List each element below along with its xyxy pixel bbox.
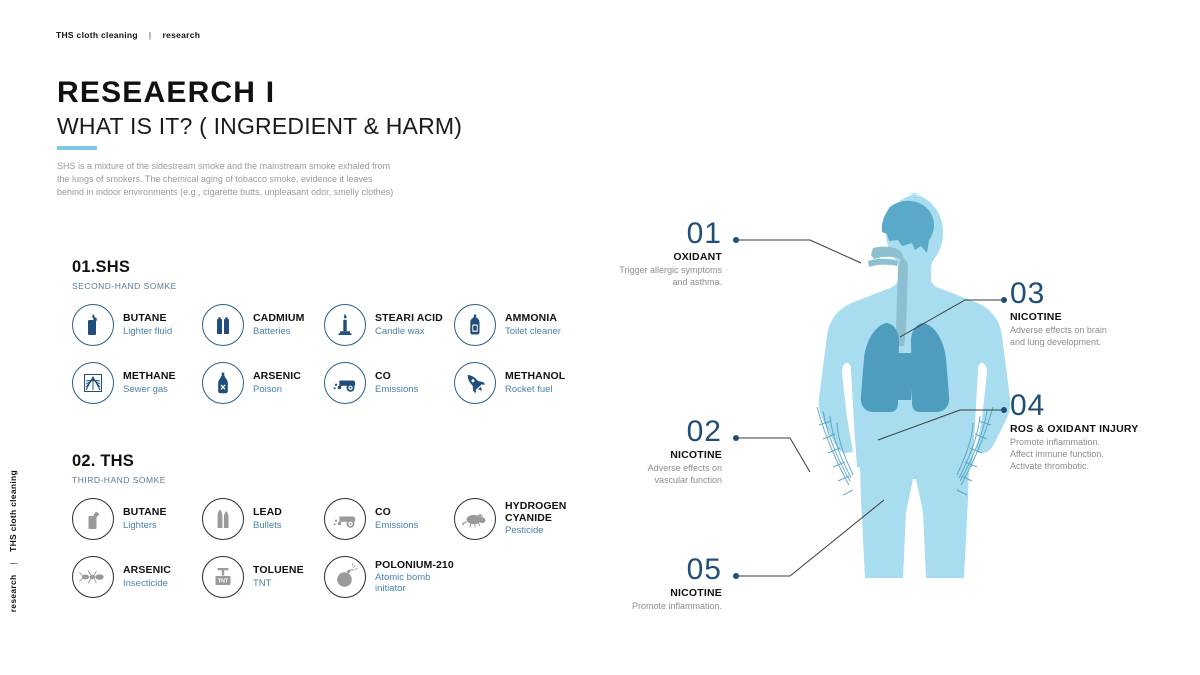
cannon-icon [324, 362, 366, 404]
page-subtitle: WHAT IS IT? ( INGREDIENT & HARM) [57, 113, 462, 140]
callout-04[interactable]: 04 ROS & OXIDANT INJURY Promote inflamma… [1010, 392, 1195, 472]
callout-02[interactable]: 02 NICOTINE Adverse effects on vascular … [540, 418, 722, 486]
ingredient-name: HYDROGEN CYANIDE [505, 501, 566, 525]
lighter-icon [72, 304, 114, 346]
ingredient-item[interactable]: CO Emissions [324, 362, 418, 404]
svg-text:TNT: TNT [218, 579, 229, 585]
callout-description: Promote inflammation. [540, 600, 722, 612]
breadcrumb-secondary: research [162, 30, 200, 40]
ingredient-use: Rocket fuel [505, 385, 565, 396]
callout-title: NICOTINE [1010, 311, 1190, 323]
ingredient-name: METHANE [123, 371, 176, 383]
ingredient-name: CADMIUM [253, 313, 304, 325]
ingredient-item[interactable]: LEAD Bullets [202, 498, 282, 540]
ingredient-use: Pesticide [505, 526, 566, 537]
callout-number: 02 [540, 418, 722, 447]
callout-number: 04 [1010, 392, 1195, 421]
ingredient-use: Emissions [375, 385, 418, 396]
ingredient-item[interactable]: HYDROGEN CYANIDE Pesticide [454, 498, 566, 540]
callout-title: ROS & OXIDANT INJURY [1010, 423, 1195, 435]
callout-03[interactable]: 03 NICOTINE Adverse effects on brain and… [1010, 280, 1190, 348]
ingredient-name: BUTANE [123, 313, 172, 325]
section-ths: 02. THS THIRD-HAND SOMKE BUTANE Lighters [72, 452, 602, 613]
ingredient-item[interactable]: TNT TOLUENE TNT [202, 556, 304, 598]
sewer-grate-icon [72, 362, 114, 404]
spray-bottle-icon [454, 304, 496, 346]
callout-description: Adverse effects on brain and lung develo… [1010, 324, 1190, 348]
ingredient-item[interactable]: BUTANE Lighter fluid [72, 304, 172, 346]
ingredient-use: Atomic bomb initiator [375, 573, 454, 594]
callout-number: 01 [540, 220, 722, 249]
rat-icon [454, 498, 496, 540]
breadcrumb-separator: | [149, 30, 152, 40]
ingredient-use: Sewer gas [123, 385, 176, 396]
callout-number: 03 [1010, 280, 1190, 309]
ingredient-item[interactable]: METHANOL Rocket fuel [454, 362, 565, 404]
ingredient-use: Bullets [253, 521, 282, 532]
tnt-icon: TNT [202, 556, 244, 598]
callout-description: Trigger allergic symptoms and asthma. [540, 264, 722, 288]
breadcrumb: THS cloth cleaning | research [56, 30, 200, 40]
callout-title: NICOTINE [540, 449, 722, 461]
battery-icon [202, 304, 244, 346]
lighter-icon [72, 498, 114, 540]
section-ths-number: 02. THS [72, 452, 602, 471]
ingredient-item[interactable]: ARSENIC Poison [202, 362, 301, 404]
callout-05[interactable]: 05 NICOTINE Promote inflammation. [540, 556, 722, 612]
rail-separator: | [8, 562, 18, 565]
ingredient-item[interactable]: STEARI ACID Candle wax [324, 304, 443, 346]
ingredient-use: Lighter fluid [123, 327, 172, 338]
poison-bottle-icon [202, 362, 244, 404]
slide-root: THS cloth cleaning | research research |… [0, 0, 1200, 675]
ingredient-use: Poison [253, 385, 301, 396]
bullets-icon [202, 498, 244, 540]
ingredient-name: POLONIUM-210 [375, 560, 454, 572]
rocket-icon [454, 362, 496, 404]
callout-description: Adverse effects on vascular function [540, 462, 722, 486]
ant-icon [72, 556, 114, 598]
ingredient-use: Candle wax [375, 327, 443, 338]
ingredient-name: LEAD [253, 507, 282, 519]
section-shs-grid: BUTANE Lighter fluid CADMIUM Batteries [72, 304, 602, 414]
ingredient-item[interactable]: CO Emissions [324, 498, 418, 540]
vertical-rail: research | THS cloth cleaning [8, 470, 18, 612]
callout-description: Promote inflammation. Affect immune func… [1010, 436, 1195, 472]
rail-secondary: research [8, 574, 18, 612]
ingredient-name: TOLUENE [253, 565, 304, 577]
section-ths-grid: BUTANE Lighters LEAD Bullets [72, 498, 602, 613]
section-shs: 01.SHS SECOND-HAND SOMKE BUTANE Lighter … [72, 258, 602, 414]
section-shs-number: 01.SHS [72, 258, 602, 277]
page-title: RESEAERCH I [57, 76, 275, 110]
section-ths-subtitle: THIRD-HAND SOMKE [72, 475, 602, 485]
ingredient-use: TNT [253, 579, 304, 590]
callout-number: 05 [540, 556, 722, 585]
intro-paragraph: SHS is a mixture of the sidestream smoke… [57, 160, 402, 199]
ingredient-item[interactable]: AMMONIA Toilet cleaner [454, 304, 561, 346]
ingredient-name: METHANOL [505, 371, 565, 383]
ingredient-name: ARSENIC [253, 371, 301, 383]
ingredient-name: CO [375, 371, 418, 383]
section-shs-subtitle: SECOND-HAND SOMKE [72, 281, 602, 291]
ingredient-name: CO [375, 507, 418, 519]
ingredient-item[interactable]: POLONIUM-210 Atomic bomb initiator [324, 556, 454, 598]
ingredient-name: AMMONIA [505, 313, 561, 325]
candle-icon [324, 304, 366, 346]
breadcrumb-primary: THS cloth cleaning [56, 30, 138, 40]
ingredient-name: ARSENIC [123, 565, 171, 577]
bomb-icon [324, 556, 366, 598]
callout-title: NICOTINE [540, 587, 722, 599]
ingredient-use: Insecticide [123, 579, 171, 590]
ingredient-item[interactable]: METHANE Sewer gas [72, 362, 176, 404]
ingredient-item[interactable]: ARSENIC Insecticide [72, 556, 171, 598]
ingredient-name: BUTANE [123, 507, 167, 519]
ingredient-use: Emissions [375, 521, 418, 532]
cannon-icon [324, 498, 366, 540]
ingredient-name: STEARI ACID [375, 313, 443, 325]
ingredient-item[interactable]: CADMIUM Batteries [202, 304, 304, 346]
ingredient-use: Lighters [123, 521, 167, 532]
ingredient-use: Batteries [253, 327, 304, 338]
ingredient-use: Toilet cleaner [505, 327, 561, 338]
callout-01[interactable]: 01 OXIDANT Trigger allergic symptoms and… [540, 220, 722, 288]
ingredient-item[interactable]: BUTANE Lighters [72, 498, 167, 540]
callout-title: OXIDANT [540, 251, 722, 263]
accent-underline [57, 146, 97, 150]
rail-primary: THS cloth cleaning [8, 470, 18, 552]
